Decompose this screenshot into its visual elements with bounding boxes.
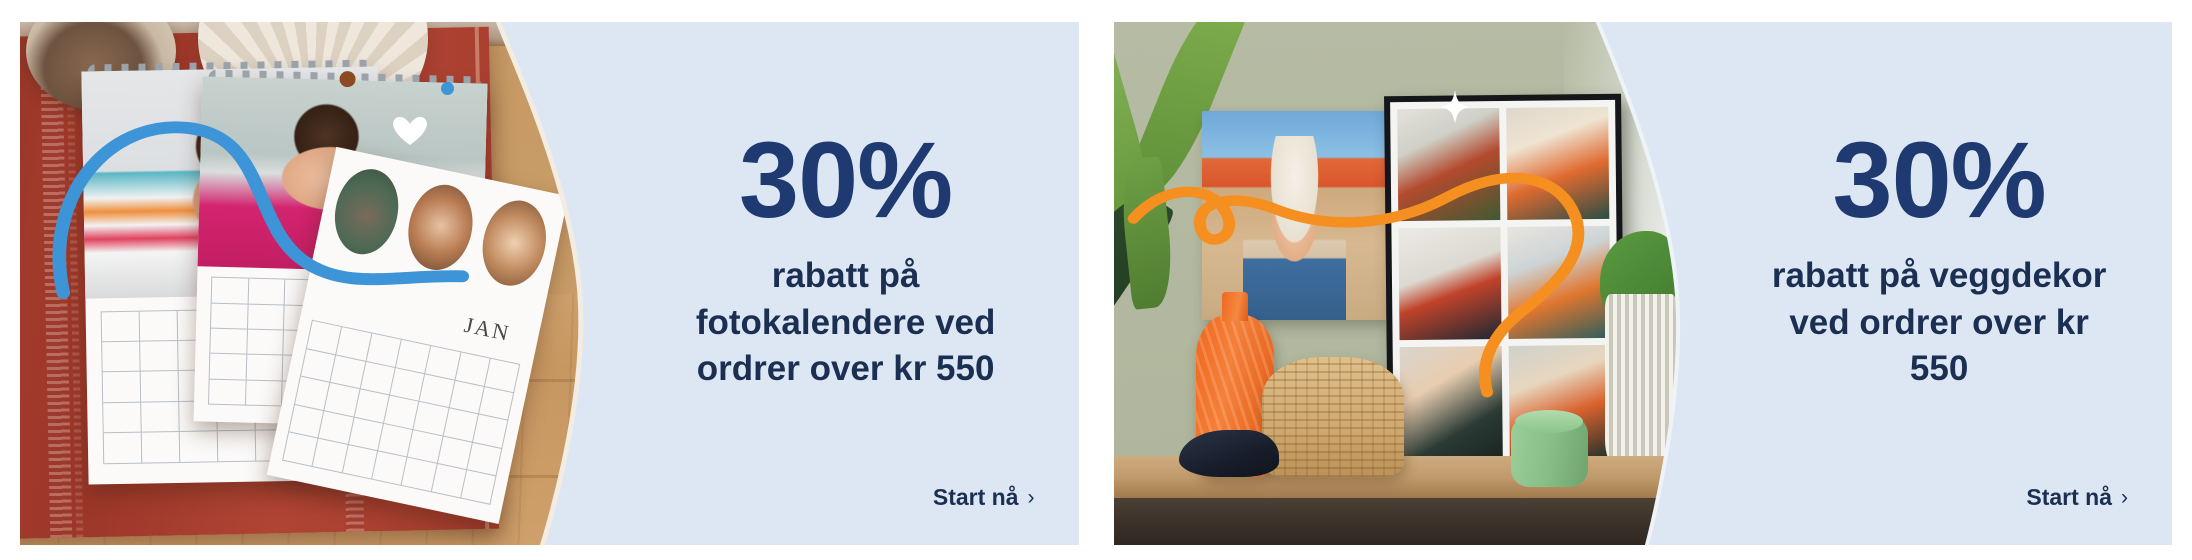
cta-label: Start nå	[933, 484, 1019, 511]
promo-subline: rabatt på fotokalendere ved ordrer over …	[696, 253, 996, 392]
photo-circle	[400, 179, 479, 276]
canvas-photo-print	[1202, 111, 1386, 320]
cta-start-now-veggdekor[interactable]: Start nå ›	[2026, 484, 2128, 511]
promo-card-veggdekor[interactable]: 30% rabatt på veggdekor ved ordrer over …	[1114, 22, 2173, 545]
cta-start-now-fotokalendere[interactable]: Start nå ›	[933, 484, 1035, 511]
promo-headline: 30%	[1833, 130, 2046, 229]
calendar-grid	[281, 320, 520, 505]
sparkle-icon	[1440, 90, 1470, 124]
framed-photo-collage	[1384, 94, 1625, 473]
heart-icon	[393, 116, 427, 146]
chevron-right-icon: ›	[2121, 487, 2128, 508]
photo-circle	[474, 195, 553, 292]
vase-neck	[1222, 292, 1248, 321]
cta-label: Start nå	[2026, 484, 2112, 511]
promo-subline: rabatt på veggdekor ved ordrer over kr 5…	[1772, 253, 2107, 392]
collage-grid	[1390, 100, 1619, 467]
promo-image-fotokalendere: JAN	[20, 22, 613, 545]
canvas-photo-subject	[1243, 136, 1346, 320]
promo-copy-veggdekor: 30% rabatt på veggdekor ved ordrer over …	[1706, 22, 2172, 545]
collage-photo	[1397, 108, 1500, 221]
wicker-basket	[1262, 357, 1404, 477]
walldecor-scene	[1114, 22, 1707, 545]
promo-headline: 30%	[739, 130, 952, 229]
promo-copy-fotokalendere: 30% rabatt på fotokalendere ved ordrer o…	[613, 22, 1079, 545]
chevron-right-icon: ›	[1028, 487, 1035, 508]
promo-image-veggdekor	[1114, 22, 1707, 545]
collage-photo	[1399, 227, 1502, 340]
promo-card-fotokalendere[interactable]: JAN	[20, 22, 1079, 545]
promo-subline-line: 550	[1772, 346, 2107, 392]
collage-photo	[1400, 347, 1503, 460]
promo-subline-line: fotokalendere ved	[696, 300, 996, 346]
shelf-shadow	[1114, 498, 1707, 545]
promo-banner-row: JAN	[0, 0, 2192, 560]
shoe-prop	[1179, 430, 1280, 477]
striped-vase	[1605, 294, 1676, 467]
collage-photo	[1506, 107, 1609, 220]
promo-subline-line: rabatt på veggdekor	[1772, 253, 2107, 299]
promo-subline-line: rabatt på	[696, 253, 996, 299]
promo-subline-line: ved ordrer over kr	[1772, 300, 2107, 346]
promo-subline-line: ordrer over kr 550	[696, 346, 996, 392]
blue-dot-icon	[441, 82, 454, 95]
photo-circle	[327, 164, 406, 261]
collage-photo	[1508, 226, 1611, 339]
calendar-scene: JAN	[20, 22, 613, 545]
green-pot	[1511, 419, 1588, 487]
pot-rim	[1515, 410, 1583, 433]
calendar-hook	[339, 70, 355, 86]
